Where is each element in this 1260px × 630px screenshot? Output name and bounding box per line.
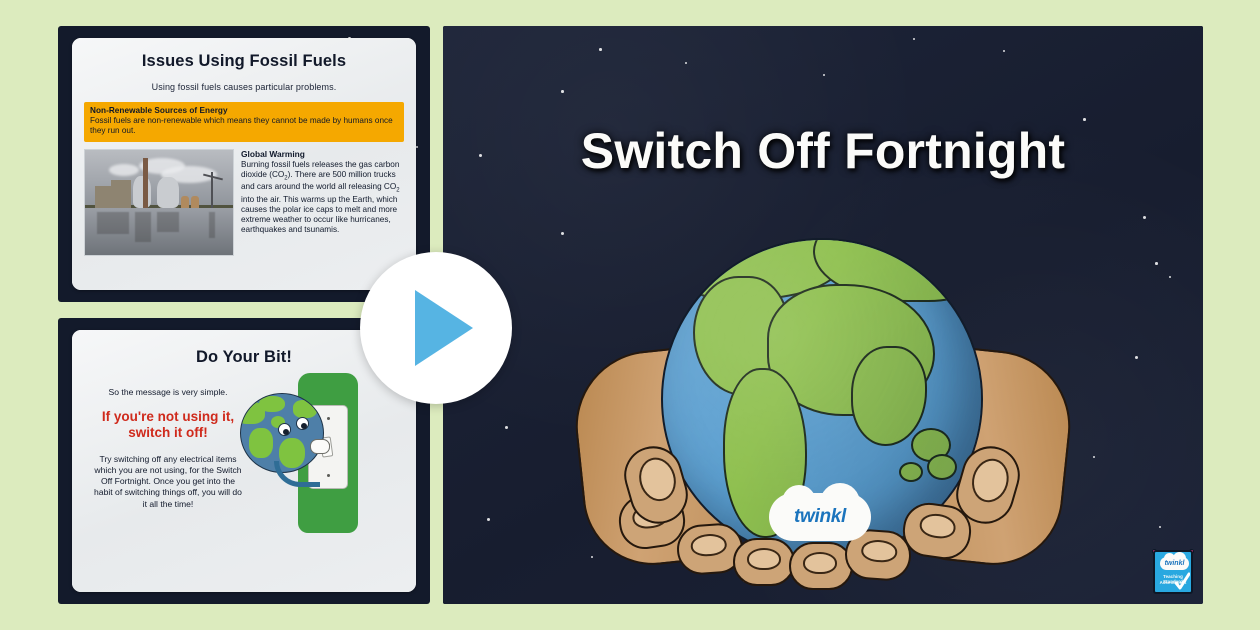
power-station-photo <box>84 149 234 256</box>
slide-thumbnail-issues-using-fossil-fuels[interactable]: Issues Using Fossil Fuels Using fossil f… <box>58 26 430 302</box>
eye-left <box>278 423 291 436</box>
shout-line-2: switch it off! <box>92 425 244 441</box>
callout-non-renewable: Non-Renewable Sources of Energy Fossil f… <box>84 102 404 142</box>
finger <box>789 542 853 590</box>
hands-holding-earth-illustration: twinkl <box>573 232 1073 604</box>
co2-subscript-2: 2 <box>396 188 399 194</box>
twinkl-assessment-badge: twinkl Teaching Standard Assessment <box>1153 550 1193 594</box>
section-body-part3: into the air. This warms up the Earth, w… <box>241 195 397 234</box>
badge-cloud-icon: twinkl <box>1160 557 1189 570</box>
callout-body: Fossil fuels are non-renewable which mea… <box>90 116 398 137</box>
page-root: Issues Using Fossil Fuels Using fossil f… <box>0 0 1260 630</box>
eye-right <box>296 417 309 430</box>
message-line: So the message is very simple. <box>92 387 244 397</box>
section-body: Burning fossil fuels releases the gas ca… <box>241 160 404 236</box>
global-warming-text: Global Warming Burning fossil fuels rele… <box>241 149 404 256</box>
badge-card: twinkl Teaching Standard Assessment <box>1153 550 1193 594</box>
play-icon <box>415 290 473 366</box>
hand <box>310 439 330 454</box>
section-heading: Global Warming <box>241 149 404 159</box>
arm <box>274 461 320 487</box>
earth-switch-illustration <box>244 387 404 510</box>
callout-heading: Non-Renewable Sources of Energy <box>90 106 398 115</box>
slide-title: Issues Using Fossil Fuels <box>84 52 404 71</box>
page-title: Switch Off Fortnight <box>443 122 1203 180</box>
slide-card: Issues Using Fossil Fuels Using fossil f… <box>72 38 416 290</box>
main-slide-stage[interactable]: Switch Off Fortnight <box>443 26 1203 604</box>
slide-subtitle: Using fossil fuels causes particular pro… <box>84 82 404 92</box>
play-button[interactable] <box>360 252 512 404</box>
twinkl-logo: twinkl <box>772 496 868 538</box>
global-warming-row: Global Warming Burning fossil fuels rele… <box>84 149 404 256</box>
badge-wordmark: twinkl <box>1165 560 1185 567</box>
slide-card: Do Your Bit! So the message is very simp… <box>72 330 416 592</box>
finger <box>733 538 795 586</box>
check-icon <box>1175 572 1190 592</box>
slide-title: Do Your Bit! <box>84 348 404 367</box>
body-paragraph: Try switching off any electrical items w… <box>92 454 244 510</box>
shout-message: If you're not using it, switch it off! <box>92 409 244 441</box>
slide-body: So the message is very simple. If you're… <box>84 387 404 510</box>
twinkl-wordmark: twinkl <box>794 506 846 528</box>
shout-line-1: If you're not using it, <box>92 409 244 425</box>
